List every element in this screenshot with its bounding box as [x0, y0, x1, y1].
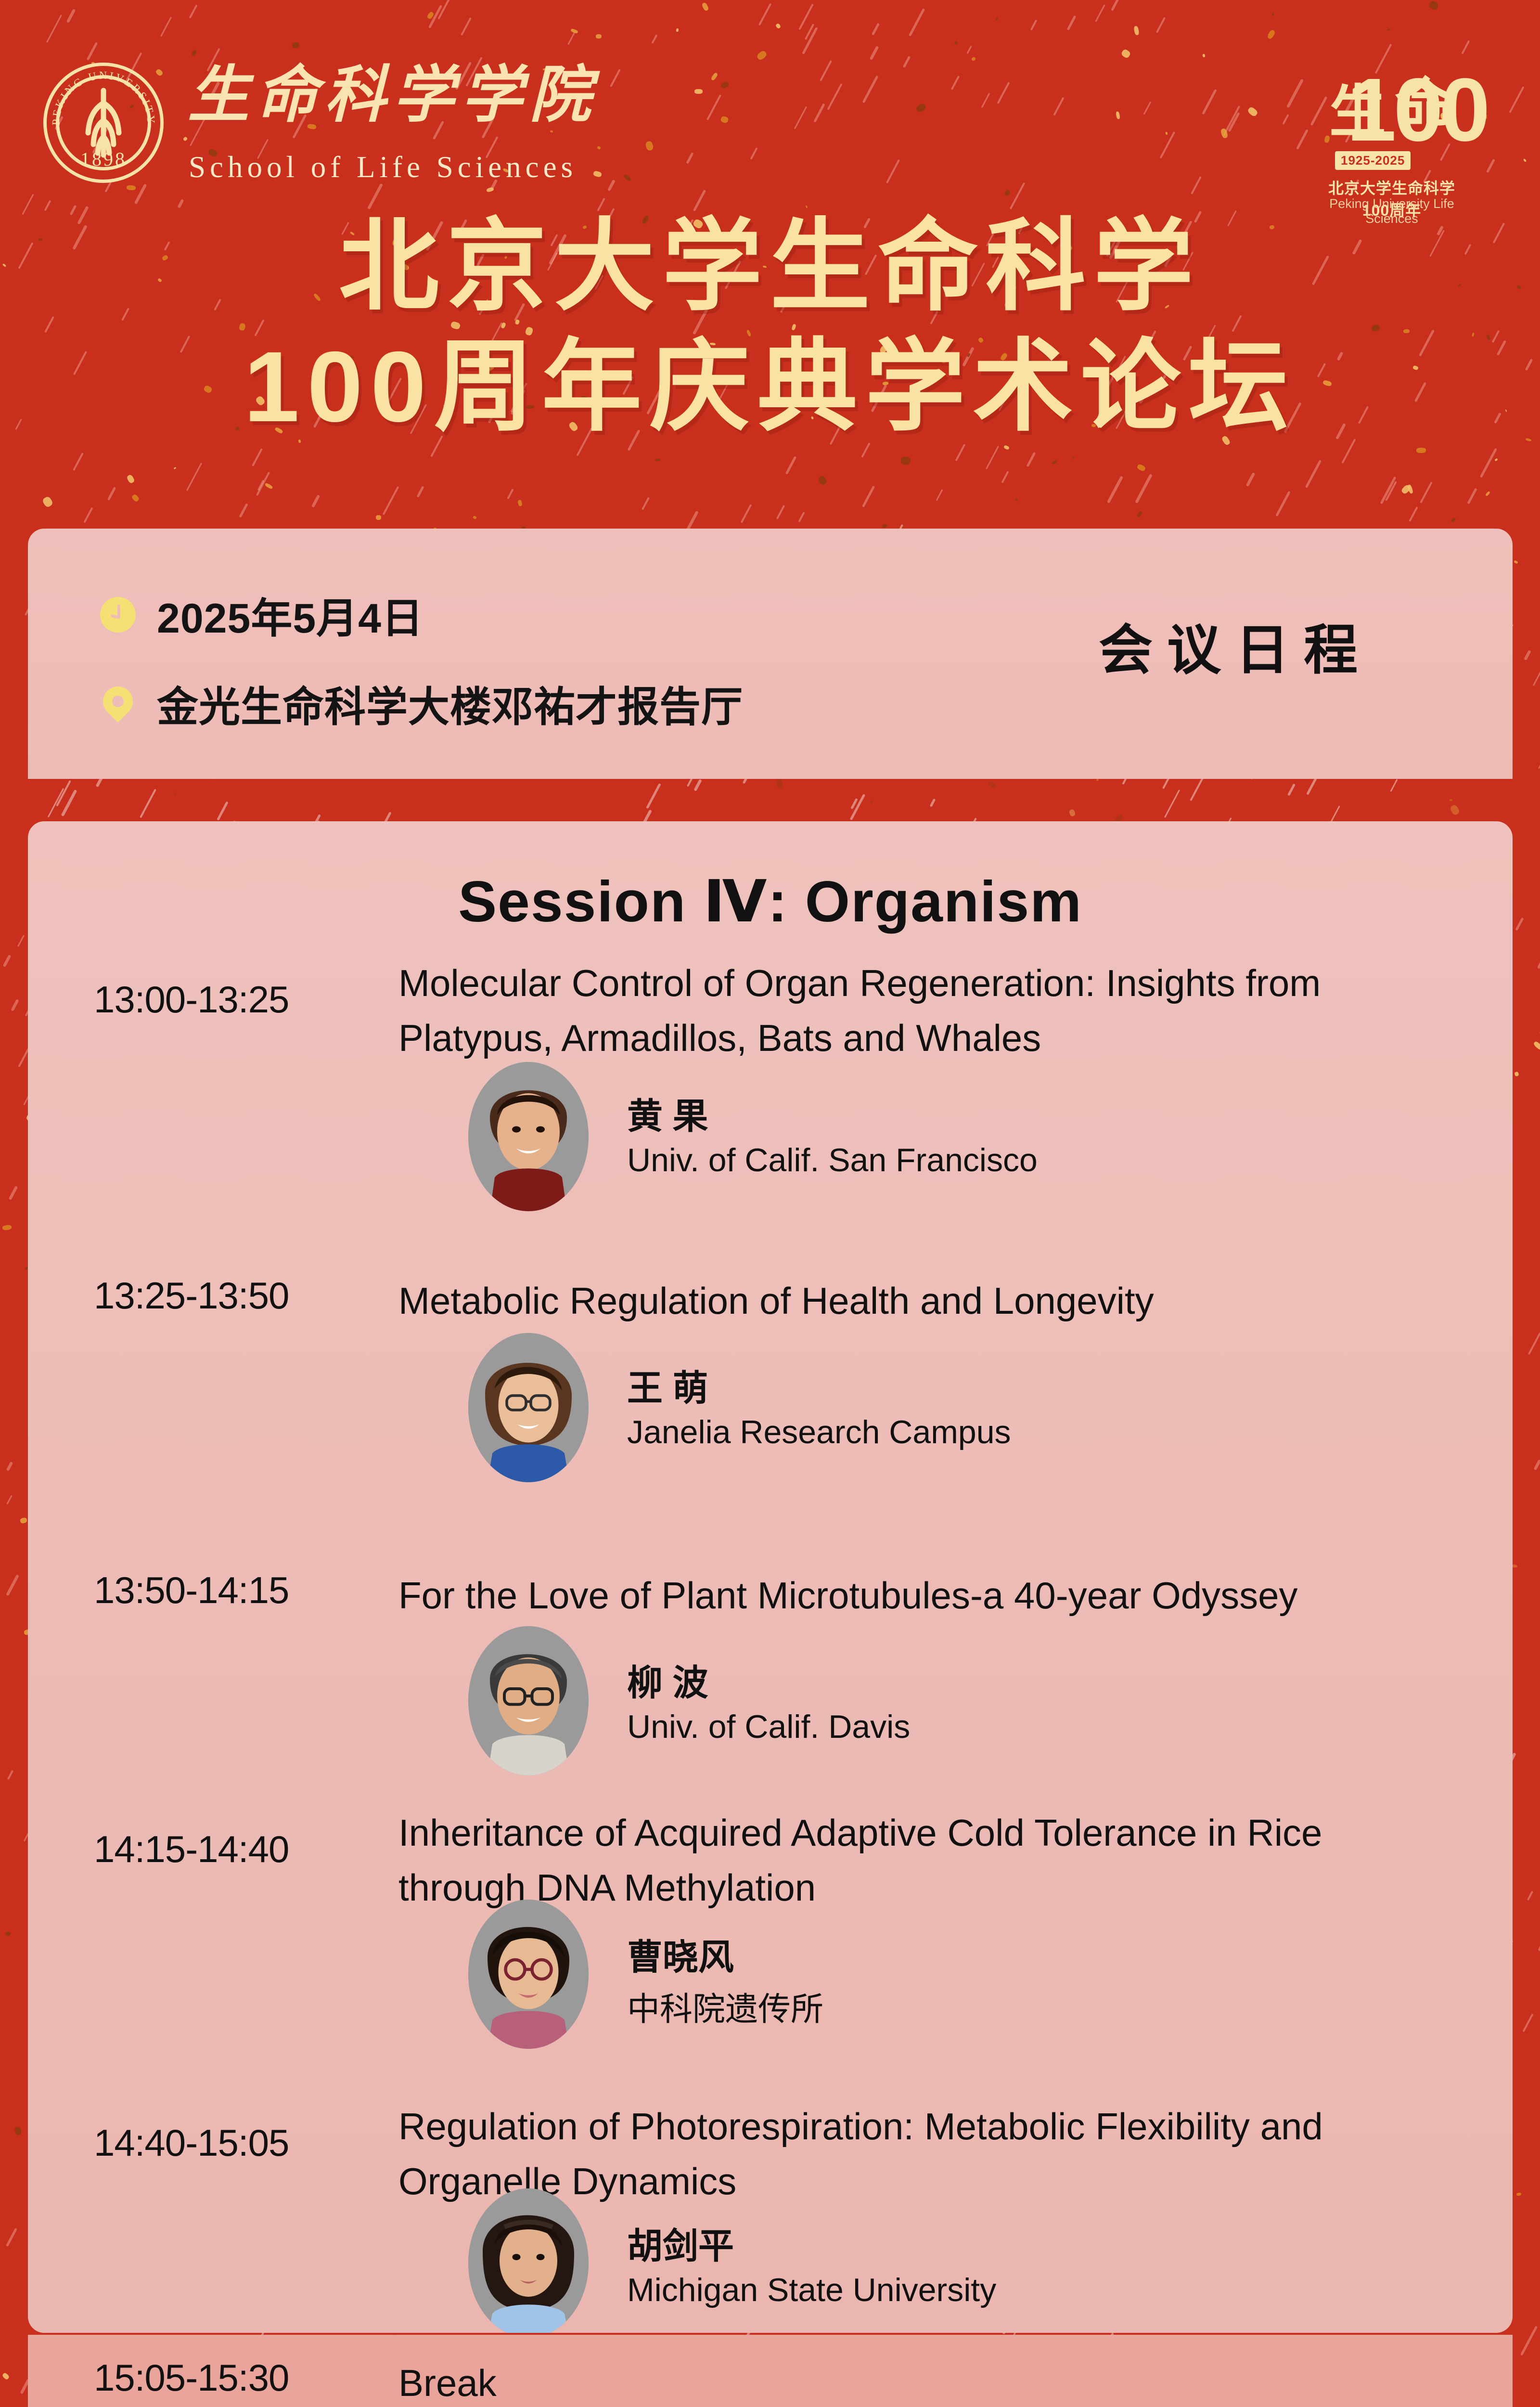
brand-row: PEKING UNIVERSITY 1898 生命科学	[43, 58, 1497, 202]
session-item-time: 13:25-13:50	[94, 1274, 289, 1318]
speaker-name: 王 萌	[627, 1359, 708, 1411]
speaker-avatar	[468, 1062, 589, 1211]
speaker-name: 胡剑平	[627, 2217, 734, 2269]
session-item-time: 13:50-14:15	[94, 1568, 289, 1612]
session-item-time: 13:00-13:25	[94, 978, 289, 1022]
session-heading-4: Session Ⅳ: Organism	[28, 868, 1513, 935]
event-location: 金光生命科学大楼邓祐才报告厅	[157, 673, 743, 733]
speaker-avatar	[468, 1900, 589, 2049]
poster-title-line2: 100周年庆典学术论坛	[0, 327, 1540, 448]
speaker-affiliation: Univ. of Calif. Davis	[627, 1708, 910, 1746]
speaker-affiliation: Michigan State University	[627, 2271, 996, 2309]
break-row: 15:05-15:30 Break	[28, 2335, 1513, 2407]
seal-year: 1898	[43, 148, 164, 170]
anniversary-years: 1925-2025	[1335, 151, 1411, 170]
event-info-card: 2025年5月4日 金光生命科学大楼邓祐才报告厅 会议日程	[28, 529, 1513, 779]
school-name-cn: 生命科学学院	[188, 65, 598, 126]
speaker-name: 黄 果	[627, 1087, 708, 1139]
anniversary-logo: 100 生 命 1925-2025 北京大学生命科学100周年 Peking U…	[1320, 63, 1464, 221]
poster-title: 北京大学生命科学 100周年庆典学术论坛	[0, 207, 1540, 447]
speaker-affiliation: 中科院遗传所	[627, 1982, 823, 2030]
speaker-avatar	[468, 1626, 589, 1775]
clock-icon	[100, 597, 136, 633]
map-pin-icon	[100, 686, 136, 721]
session-card-4: Session Ⅳ: Organism 13:00-13:25 Molecula…	[28, 821, 1513, 2333]
anniversary-sheng-glyph: 生	[1329, 84, 1386, 141]
speaker-avatar	[468, 2188, 589, 2333]
speaker-avatar	[468, 1333, 589, 1482]
speaker-affiliation: Univ. of Calif. San Francisco	[627, 1141, 1038, 1179]
school-name-en: School of Life Sciences	[189, 152, 577, 182]
poster-title-line1: 北京大学生命科学	[0, 207, 1540, 327]
speaker-name: 柳 波	[627, 1654, 708, 1706]
pku-seal-icon: PEKING UNIVERSITY 1898	[43, 63, 164, 183]
event-location-row: 金光生命科学大楼邓祐才报告厅	[100, 673, 743, 733]
speaker-affiliation: Janelia Research Campus	[627, 1413, 1011, 1451]
session-item-time: 14:15-14:40	[94, 1827, 289, 1871]
session-item-talk: Inheritance of Acquired Adaptive Cold To…	[398, 1806, 1443, 1915]
poster-header: PEKING UNIVERSITY 1898 生命科学	[0, 0, 1540, 518]
break-time: 15:05-15:30	[94, 2356, 289, 2400]
event-date-row: 2025年5月4日	[100, 584, 423, 645]
anniversary-ming-glyph: 命	[1395, 77, 1455, 138]
session-item-talk: Molecular Control of Organ Regeneration:…	[398, 956, 1443, 1066]
break-label: Break	[398, 2356, 497, 2407]
session-item-time: 14:40-15:05	[94, 2121, 289, 2165]
speaker-name: 曹晓风	[627, 1928, 734, 1980]
session-item-talk: For the Love of Plant Microtubules-a 40-…	[398, 1568, 1443, 1623]
session-item-talk: Metabolic Regulation of Health and Longe…	[398, 1274, 1443, 1329]
event-date: 2025年5月4日	[157, 584, 423, 645]
agenda-heading: 会议日程	[1099, 607, 1372, 685]
